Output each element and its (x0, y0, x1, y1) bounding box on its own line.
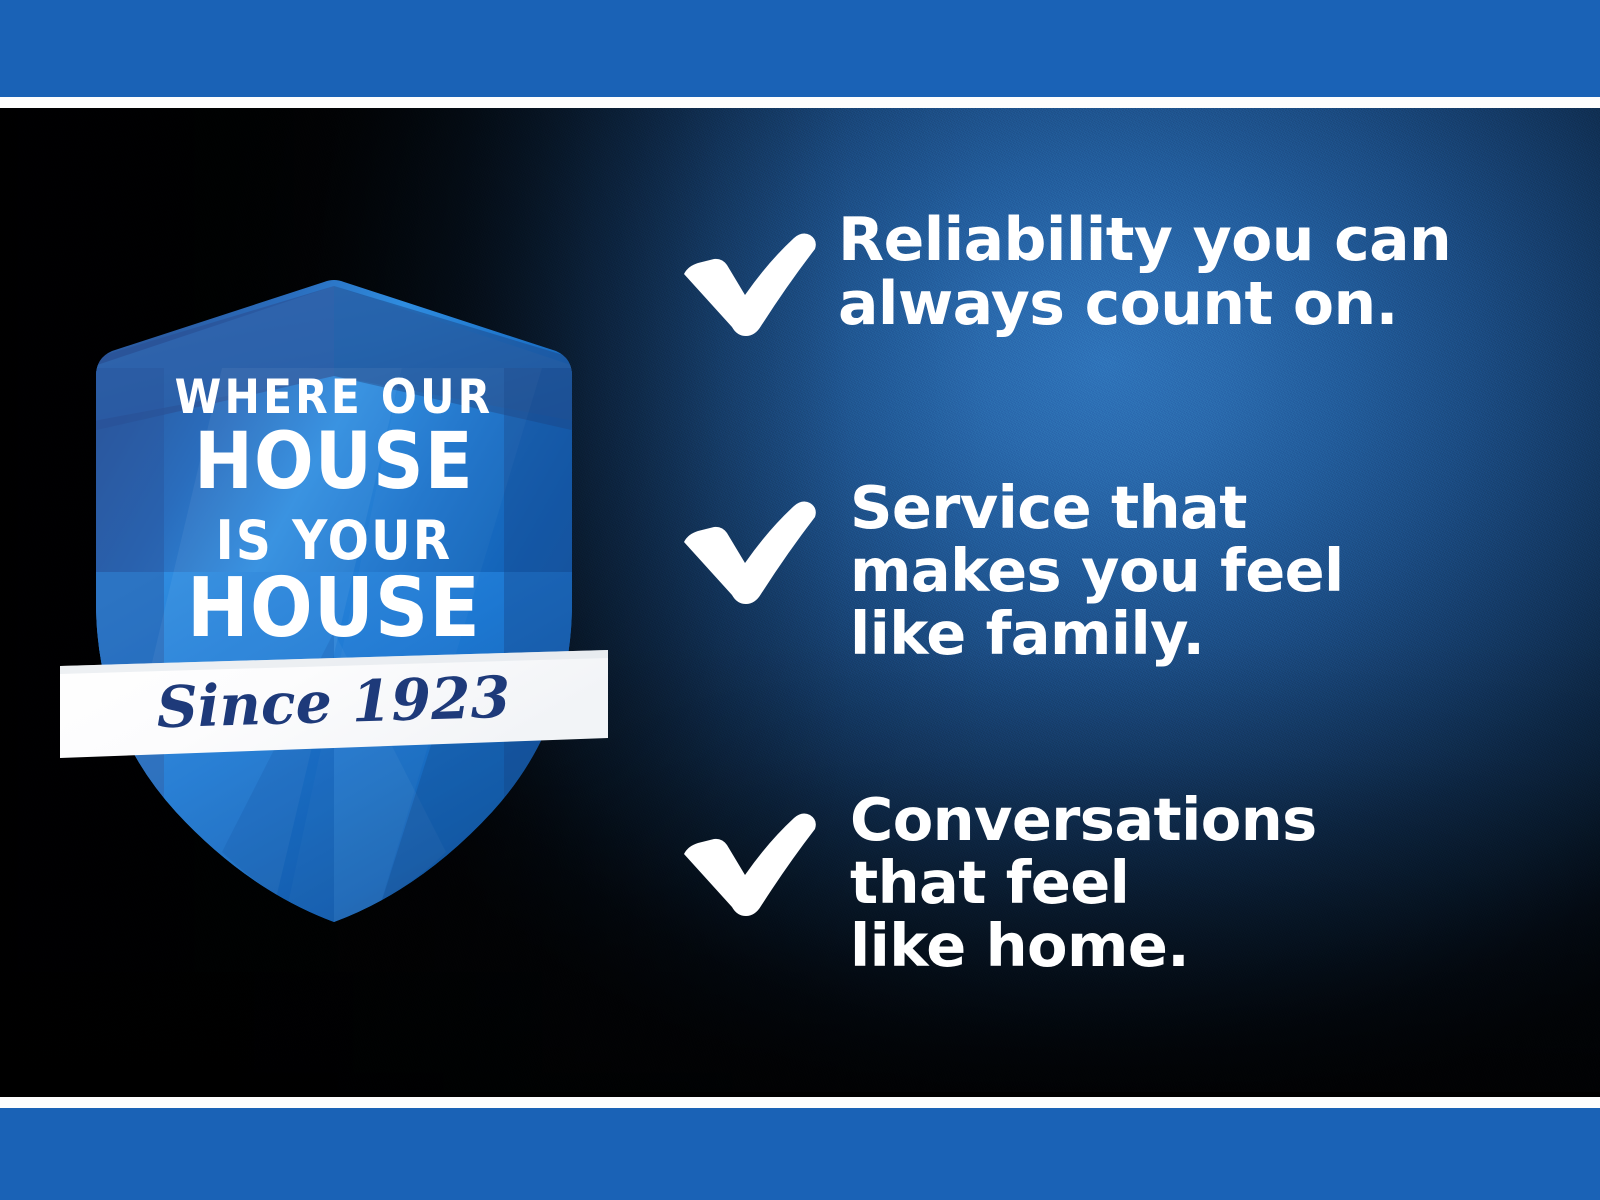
bottom-hairline-divider (0, 1097, 1600, 1108)
checkmark-icon (676, 802, 824, 922)
badge-line-4: HOUSE (187, 561, 481, 656)
top-brand-band (0, 0, 1600, 97)
badge-headline: WHERE OUR HOUSE IS YOUR HOUSE (175, 370, 494, 656)
top-hairline-divider (0, 97, 1600, 108)
benefit-item-2: Service that makes you feel like family. (672, 476, 1532, 665)
benefit-text-2: Service that makes you feel like family. (824, 476, 1532, 665)
benefit-item-3: Conversations that feel like home. (672, 788, 1532, 977)
ribbon-label: Since 1923 (156, 664, 512, 741)
shield-badge: WHERE OUR HOUSE IS YOUR HOUSE Since 1923 (72, 272, 596, 928)
badge-line-2: HOUSE (194, 417, 474, 507)
benefits-list: Reliability you can always count on. Ser… (672, 208, 1532, 1038)
benefit-text-1: Reliability you can always count on. (824, 208, 1532, 336)
main-canvas: WHERE OUR HOUSE IS YOUR HOUSE Since 1923 (0, 108, 1600, 1092)
bottom-brand-band (0, 1108, 1600, 1200)
benefit-item-1: Reliability you can always count on. (672, 208, 1532, 342)
checkmark-icon (676, 222, 824, 342)
checkmark-icon (676, 490, 824, 610)
benefit-text-3: Conversations that feel like home. (824, 788, 1532, 977)
promo-graphic: WHERE OUR HOUSE IS YOUR HOUSE Since 1923 (0, 0, 1600, 1200)
